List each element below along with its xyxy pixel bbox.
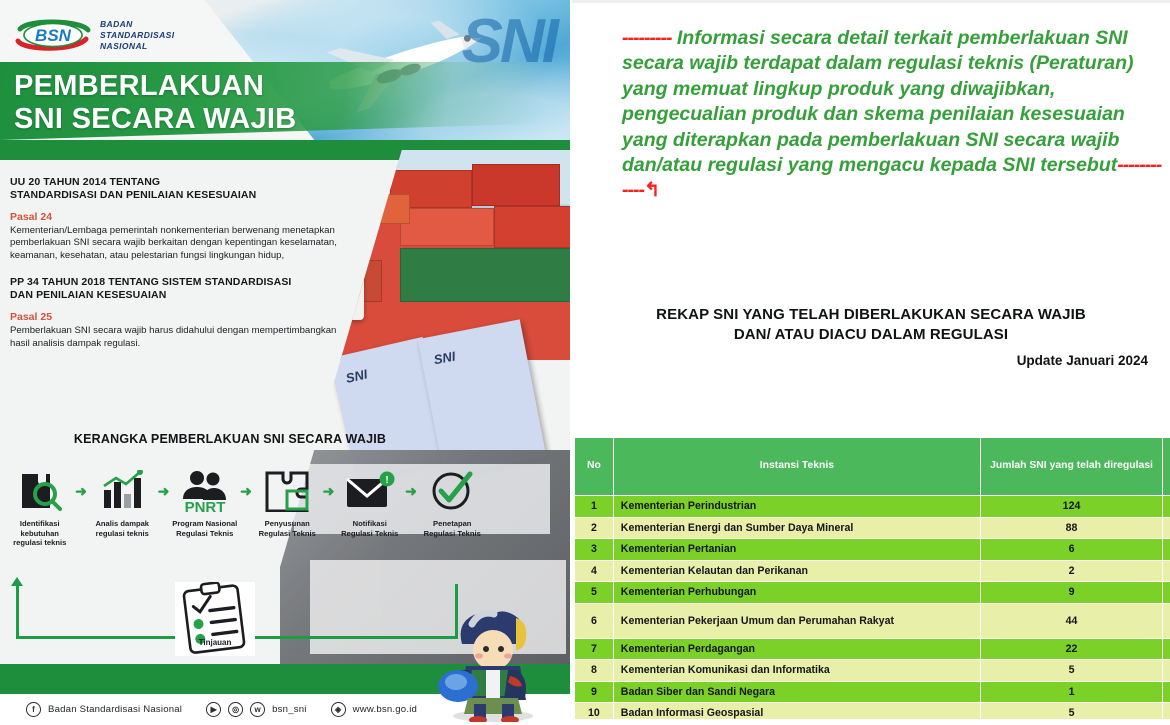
framework-step-4-label: Penyusunan Regulasi Teknis (254, 519, 322, 538)
framework-step-1: Identifikasi kebutuhan regulasi teknis (6, 468, 74, 548)
cell-diregulasi: 22 (980, 638, 1162, 660)
infographic-title: PEMBERLAKUAN SNI SECARA WAJIB (14, 70, 296, 136)
cell-diregulasi: 2 (980, 560, 1162, 582)
rekap-table-wrapper: No Instansi Teknis Jumlah SNI yang telah… (574, 437, 1170, 725)
framework-step-5: ! Notifikasi Regulasi Teknis (336, 468, 404, 538)
cell-instansi: Kementerian Pekerjaan Umum dan Perumahan… (613, 603, 980, 638)
intro-paragraph: --------- Informasi secara detail terkai… (622, 26, 1162, 204)
cell-no: 5 (575, 582, 614, 604)
cell-no: 8 (575, 660, 614, 682)
regulation-heading-2: PP 34 TAHUN 2018 TENTANG SISTEM STANDARD… (10, 276, 340, 302)
framework-diagram: KERANGKA PEMBERLAKUAN SNI SECARA WAJIB I… (0, 432, 500, 662)
table-row: 3 Kementerian Pertanian 6 6 3 (575, 539, 1170, 561)
bar-chart-icon (89, 468, 157, 514)
regulation-pasal-1: Pasal 24 (10, 211, 340, 223)
framework-step-3: PNRT Program Nasional Regulasi Teknis (171, 468, 239, 538)
framework-arrow-1: ➜ (74, 468, 89, 514)
framework-step-2-label: Analis dampak regulasi teknis (89, 519, 157, 538)
framework-step-6: Penetapan Regulasi Teknis (419, 468, 487, 538)
table-body: 1 Kementerian Perindustrian 124 120 78 2… (575, 496, 1170, 725)
table-row: 5 Kementerian Perhubungan 9 0 0 (575, 582, 1170, 604)
website-label: www.bsn.go.id (353, 704, 417, 715)
cell-instansi: Kementerian Pertanian (613, 539, 980, 561)
envelope-alert-icon: ! (336, 468, 404, 514)
framework-review-label: Tinjauan (165, 638, 265, 647)
framework-title: KERANGKA PEMBERLAKUAN SNI SECARA WAJIB (0, 432, 460, 446)
cell-diregulasi: 9 (980, 582, 1162, 604)
puzzle-magnifier-icon (6, 468, 74, 514)
regulation-heading-2-line2: DAN PENILAIAN KESESUAIAN (10, 289, 340, 302)
page-title-line2: DAN/ ATAU DIACU DALAM REGULASI (572, 325, 1170, 345)
framework-steps: Identifikasi kebutuhan regulasi teknis ➜ (6, 468, 486, 548)
table-bottom-spacer (574, 719, 1170, 725)
cell-dinotifikasi: 0 (1163, 660, 1170, 682)
presentation-slide: SNI BSN BADAN STANDARDISASI NASIONAL (0, 0, 1170, 725)
check-circle-icon (419, 468, 487, 514)
cell-diregulasi: 88 (980, 517, 1162, 539)
bsn-logo: BSN BADAN STANDARDISASI NASIONAL (14, 17, 174, 53)
table-row: 7 Kementerian Perdagangan 22 0 4 (575, 638, 1170, 660)
framework-arrow-2: ➜ (156, 468, 171, 514)
table-row: 1 Kementerian Perindustrian 124 120 78 (575, 496, 1170, 518)
table-row: 6 Kementerian Pekerjaan Umum dan Perumah… (575, 603, 1170, 638)
instagram-icon[interactable]: ◎ (228, 702, 243, 717)
youtube-icon[interactable]: ▶ (206, 702, 221, 717)
cell-no: 2 (575, 517, 614, 539)
regulation-body-1: Kementerian/Lembaga pemerintah nonkement… (10, 225, 340, 262)
svg-text:!: ! (385, 475, 388, 486)
content-panel: --------- Informasi secara detail terkai… (572, 0, 1170, 725)
infographic-title-line1: PEMBERLAKUAN (14, 70, 296, 103)
bsn-logo-line2: STANDARDISASI (100, 30, 174, 41)
svg-text:PNRT: PNRT (184, 499, 225, 513)
cell-diregulasi: 5 (980, 660, 1162, 682)
page-title: REKAP SNI YANG TELAH DIBERLAKUKAN SECARA… (572, 305, 1170, 345)
cell-dinotifikasi: 6 (1163, 539, 1170, 561)
framework-step-5-label: Notifikasi Regulasi Teknis (336, 519, 404, 538)
cell-diregulasi: 124 (980, 496, 1162, 518)
cell-instansi: Kementerian Perdagangan (613, 638, 980, 660)
cell-diregulasi: 6 (980, 539, 1162, 561)
cell-no: 7 (575, 638, 614, 660)
cell-dinotifikasi: 0 (1163, 681, 1170, 703)
table-header-row: No Instansi Teknis Jumlah SNI yang telah… (575, 438, 1170, 496)
bsn-infographic-panel: SNI BSN BADAN STANDARDISASI NASIONAL (0, 0, 570, 725)
pnrt-people-icon: PNRT (171, 468, 239, 514)
cell-no: 1 (575, 496, 614, 518)
cell-dinotifikasi: 2 (1163, 560, 1170, 582)
cell-dinotifikasi: 120 (1163, 496, 1170, 518)
framework-step-6-label: Penetapan Regulasi Teknis (419, 519, 487, 538)
regulation-body-2: Pemberlakuan SNI secara wajib harus dida… (10, 325, 340, 350)
svg-text:BSN: BSN (35, 26, 72, 45)
table-row: 4 Kementerian Kelautan dan Perikanan 2 2… (575, 560, 1170, 582)
intro-lead-dashes: --------- (622, 27, 671, 49)
cell-diregulasi: 44 (980, 603, 1162, 638)
infographic-title-line2: SNI SECARA WAJIB (14, 103, 296, 136)
column-header-no: No (575, 438, 614, 496)
facebook-label: Badan Standardisasi Nasional (48, 704, 182, 715)
regulation-text-block: UU 20 TAHUN 2014 TENTANG STANDARDISASI D… (10, 176, 340, 350)
table-row: 9 Badan Siber dan Sandi Negara 1 0 1 (575, 681, 1170, 703)
cell-instansi: Kementerian Komunikasi dan Informatika (613, 660, 980, 682)
cell-no: 6 (575, 603, 614, 638)
bsn-logo-mark: BSN (14, 17, 92, 53)
table-row: 8 Kementerian Komunikasi dan Informatika… (575, 660, 1170, 682)
facebook-icon[interactable]: f (26, 702, 41, 717)
framework-step-4: Penyusunan Regulasi Teknis (254, 468, 322, 538)
cell-instansi: Kementerian Perhubungan (613, 582, 980, 604)
cell-instansi: Badan Siber dan Sandi Negara (613, 681, 980, 703)
twitter-icon[interactable]: w (250, 702, 265, 717)
column-header-dinotifikasi: Jumlah SNI yang telah dinotifikasi (1163, 438, 1170, 496)
cell-no: 4 (575, 560, 614, 582)
framework-arrow-5: ➜ (404, 468, 419, 514)
cell-instansi: Kementerian Perindustrian (613, 496, 980, 518)
regulation-heading-1: UU 20 TAHUN 2014 TENTANG STANDARDISASI D… (10, 176, 340, 202)
globe-icon[interactable]: ◈ (331, 702, 346, 717)
regulation-heading-2-line1: PP 34 TAHUN 2018 TENTANG SISTEM STANDARD… (10, 276, 340, 289)
cell-dinotifikasi: 0 (1163, 582, 1170, 604)
cell-diregulasi: 1 (980, 681, 1162, 703)
cell-no: 3 (575, 539, 614, 561)
framework-arrow-3: ➜ (239, 468, 254, 514)
cell-dinotifikasi: 11 (1163, 517, 1170, 539)
page-title-line1: REKAP SNI YANG TELAH DIBERLAKUKAN SECARA… (572, 305, 1170, 325)
cell-instansi: Kementerian Kelautan dan Perikanan (613, 560, 980, 582)
cell-dinotifikasi: 0 (1163, 638, 1170, 660)
puzzle-pieces-icon (254, 468, 322, 514)
table-head: No Instansi Teknis Jumlah SNI yang telah… (575, 438, 1170, 496)
bsn-mascot-icon (432, 604, 554, 722)
regulation-heading-1-line1: UU 20 TAHUN 2014 TENTANG (10, 176, 340, 189)
column-header-instansi: Instansi Teknis (613, 438, 980, 496)
social-handle: bsn_sni (272, 704, 306, 715)
intro-trailing-arrow: ↰ (644, 179, 660, 201)
bsn-logo-line3: NASIONAL (100, 41, 174, 52)
top-divider (572, 0, 1170, 3)
bsn-logo-line1: BADAN (100, 19, 174, 30)
framework-step-2: Analis dampak regulasi teknis (89, 468, 157, 538)
regulation-pasal-2: Pasal 25 (10, 311, 340, 323)
update-label: Update Januari 2024 (1017, 353, 1148, 368)
bsn-logo-text: BADAN STANDARDISASI NASIONAL (100, 19, 174, 52)
cell-instansi: Kementerian Energi dan Sumber Daya Miner… (613, 517, 980, 539)
infographic-banner: SNI BSN BADAN STANDARDISASI NASIONAL (0, 0, 570, 160)
framework-step-1-label: Identifikasi kebutuhan regulasi teknis (6, 519, 74, 548)
intro-text: Informasi secara detail terkait pemberla… (622, 27, 1134, 176)
table-row: 2 Kementerian Energi dan Sumber Daya Min… (575, 517, 1170, 539)
cell-no: 9 (575, 681, 614, 703)
framework-arrow-4: ➜ (321, 468, 336, 514)
cell-dinotifikasi: 0 (1163, 603, 1170, 638)
column-header-diregulasi: Jumlah SNI yang telah diregulasi (980, 438, 1162, 496)
framework-step-3-label: Program Nasional Regulasi Teknis (171, 519, 239, 538)
rekap-table: No Instansi Teknis Jumlah SNI yang telah… (574, 437, 1170, 725)
regulation-heading-1-line2: STANDARDISASI DAN PENILAIAN KESESUAIAN (10, 189, 340, 202)
